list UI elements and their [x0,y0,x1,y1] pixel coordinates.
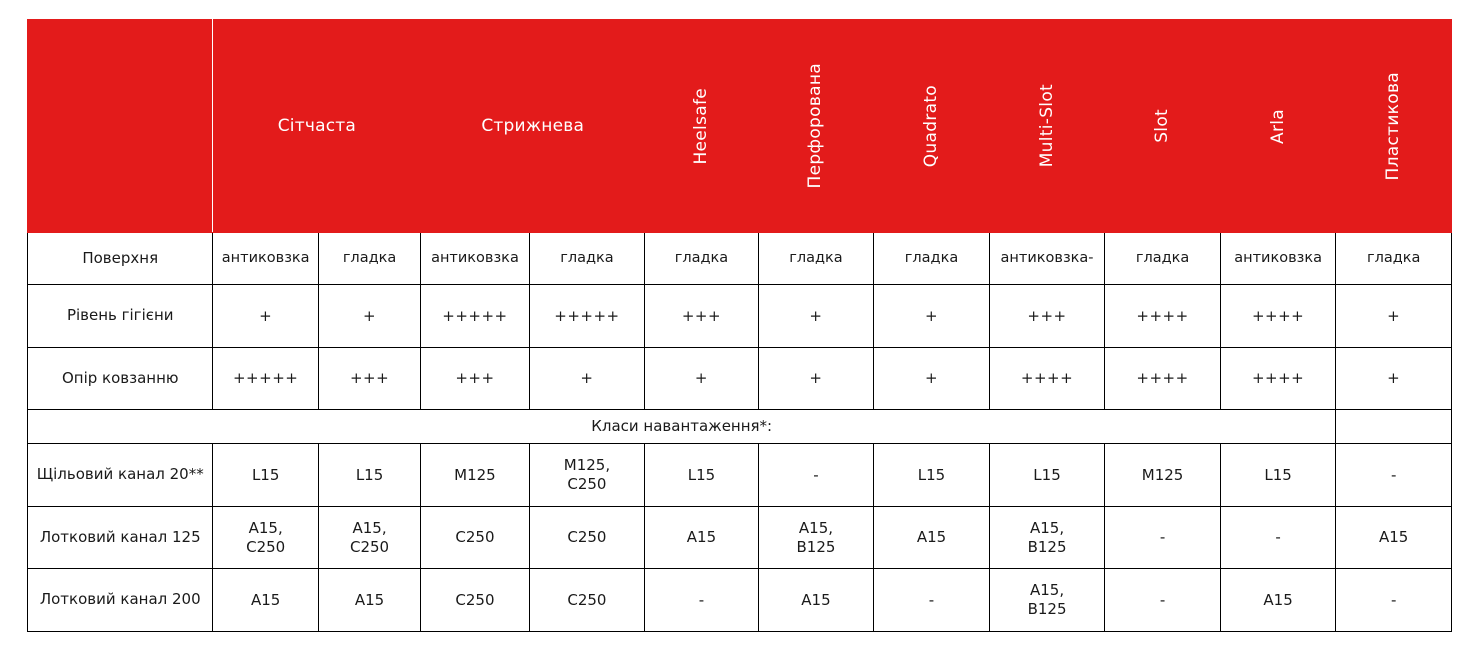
cell-trough200-7: A15,B125 [989,569,1105,632]
cell-slip-9: ++++ [1220,348,1336,410]
header-group-label: Slot [1154,109,1171,143]
vertical-text-wrapper: Heelsafe [645,26,758,226]
cell-surface-5: гладка [758,233,874,285]
cell-slot20-10: - [1336,444,1452,507]
cell-trough125-7: A15,B125 [989,506,1105,569]
cell-slot20-6: L15 [874,444,990,507]
header-group-plastykova: Пластикова [1336,20,1452,233]
header-corner-cell [28,20,213,233]
section-header-load-classes: Класи навантаження*: [28,409,1336,443]
cell-trough200-1: A15 [318,569,420,632]
vertical-text-wrapper: Пластикова [1336,26,1451,226]
table-row: Поверхня антиковзка гладка антиковзка гл… [28,233,1452,285]
cell-trough200-4: - [645,569,759,632]
cell-slot20-9: L15 [1220,444,1336,507]
cell-hygiene-6: + [874,284,990,348]
cell-trough125-9: - [1220,506,1336,569]
cell-trough200-8: - [1105,569,1221,632]
cell-slot20-1: L15 [318,444,420,507]
row-label-hygiene-level: Рівень гігієни [28,284,213,348]
cell-trough125-3: C250 [529,506,645,569]
cell-trough200-5: A15 [758,569,874,632]
row-label-trough-channel-200: Лотковий канал 200 [28,569,213,632]
header-group-arla: Arla [1220,20,1336,233]
cell-trough125-2: C250 [421,506,529,569]
row-label-trough-channel-125: Лотковий канал 125 [28,506,213,569]
cell-trough125-4: A15 [645,506,759,569]
vertical-text-wrapper: Multi-Slot [990,26,1105,226]
header-group-slot: Slot [1105,20,1221,233]
cell-surface-8: гладка [1105,233,1221,285]
vertical-text-wrapper: Arla [1221,26,1336,226]
cell-surface-7: антиковзка- [989,233,1105,285]
cell-trough200-0: A15 [213,569,318,632]
cell-slip-1: +++ [318,348,420,410]
header-group-label: Сітчаста [278,116,356,136]
header-group-label: Quadrato [923,85,940,167]
cell-trough125-1: A15,C250 [318,506,420,569]
section-header-trailing-cell [1336,409,1452,443]
cell-hygiene-2: +++++ [421,284,529,348]
header-group-label: Multi-Slot [1039,84,1056,167]
header-group-label: Пластикова [1385,72,1402,180]
vertical-text-wrapper: Slot [1105,26,1220,226]
cell-hygiene-5: + [758,284,874,348]
cell-trough125-10: A15 [1336,506,1452,569]
cell-slip-6: + [874,348,990,410]
table-row: Опір ковзанню +++++ +++ +++ + + + + ++++… [28,348,1452,410]
row-label-slip-resistance: Опір ковзанню [28,348,213,410]
header-group-label: Перфорована [807,63,824,188]
cell-slot20-7: L15 [989,444,1105,507]
cell-slip-5: + [758,348,874,410]
header-group-label: Стрижнева [481,116,584,136]
cell-surface-4: гладка [645,233,759,285]
cell-trough125-6: A15 [874,506,990,569]
cell-trough200-10: - [1336,569,1452,632]
cell-hygiene-0: + [213,284,318,348]
header-group-perforovana: Перфорована [758,20,874,233]
cell-trough200-2: C250 [421,569,529,632]
cell-hygiene-3: +++++ [529,284,645,348]
cell-hygiene-1: + [318,284,420,348]
cell-surface-0: антиковзка [213,233,318,285]
table-row: Рівень гігієни + + +++++ +++++ +++ + + +… [28,284,1452,348]
cell-hygiene-8: ++++ [1105,284,1221,348]
vertical-text-wrapper: Перфорована [759,26,874,226]
cell-slip-8: ++++ [1105,348,1221,410]
table-row: Лотковий канал 200 A15 A15 C250 C250 - A… [28,569,1452,632]
table-sheet: Сітчаста Стрижнева Heelsafe Перфорована [0,0,1476,660]
cell-slot20-2: M125 [421,444,529,507]
header-group-multi-slot: Multi-Slot [989,20,1105,233]
cell-slip-3: + [529,348,645,410]
vertical-text-wrapper: Quadrato [874,26,989,226]
row-label-surface: Поверхня [28,233,213,285]
cell-surface-1: гладка [318,233,420,285]
cell-trough125-8: - [1105,506,1221,569]
header-group-heelsafe: Heelsafe [645,20,759,233]
row-label-slot-channel-20: Щільовий канал 20** [28,444,213,507]
cell-hygiene-9: ++++ [1220,284,1336,348]
cell-slip-4: + [645,348,759,410]
cell-hygiene-7: +++ [989,284,1105,348]
cell-slip-0: +++++ [213,348,318,410]
cell-surface-2: антиковзка [421,233,529,285]
cell-surface-9: антиковзка [1220,233,1336,285]
cell-trough125-0: A15,C250 [213,506,318,569]
cell-trough200-3: C250 [529,569,645,632]
header-group-stryzhneva: Стрижнева [421,20,645,233]
cell-hygiene-10: + [1336,284,1452,348]
cell-surface-3: гладка [529,233,645,285]
header-group-label: Arla [1270,109,1287,144]
cell-slip-10: + [1336,348,1452,410]
cell-slot20-5: - [758,444,874,507]
header-group-sitchasta: Сітчаста [213,20,421,233]
cell-trough200-9: A15 [1220,569,1336,632]
cell-surface-6: гладка [874,233,990,285]
header-group-label: Heelsafe [693,88,710,165]
table-row: Лотковий канал 125 A15,C250 A15,C250 C25… [28,506,1452,569]
cell-trough125-5: A15,B125 [758,506,874,569]
cell-surface-10: гладка [1336,233,1452,285]
table-header-row: Сітчаста Стрижнева Heelsafe Перфорована [28,20,1452,233]
cell-trough200-6: - [874,569,990,632]
cell-slip-2: +++ [421,348,529,410]
table-section-row: Класи навантаження*: [28,409,1452,443]
cell-slot20-0: L15 [213,444,318,507]
product-comparison-table: Сітчаста Стрижнева Heelsafe Перфорована [27,19,1452,632]
cell-slot20-3: M125,C250 [529,444,645,507]
cell-slip-7: ++++ [989,348,1105,410]
cell-hygiene-4: +++ [645,284,759,348]
cell-slot20-8: M125 [1105,444,1221,507]
cell-slot20-4: L15 [645,444,759,507]
table-row: Щільовий канал 20** L15 L15 M125 M125,C2… [28,444,1452,507]
header-group-quadrato: Quadrato [874,20,990,233]
